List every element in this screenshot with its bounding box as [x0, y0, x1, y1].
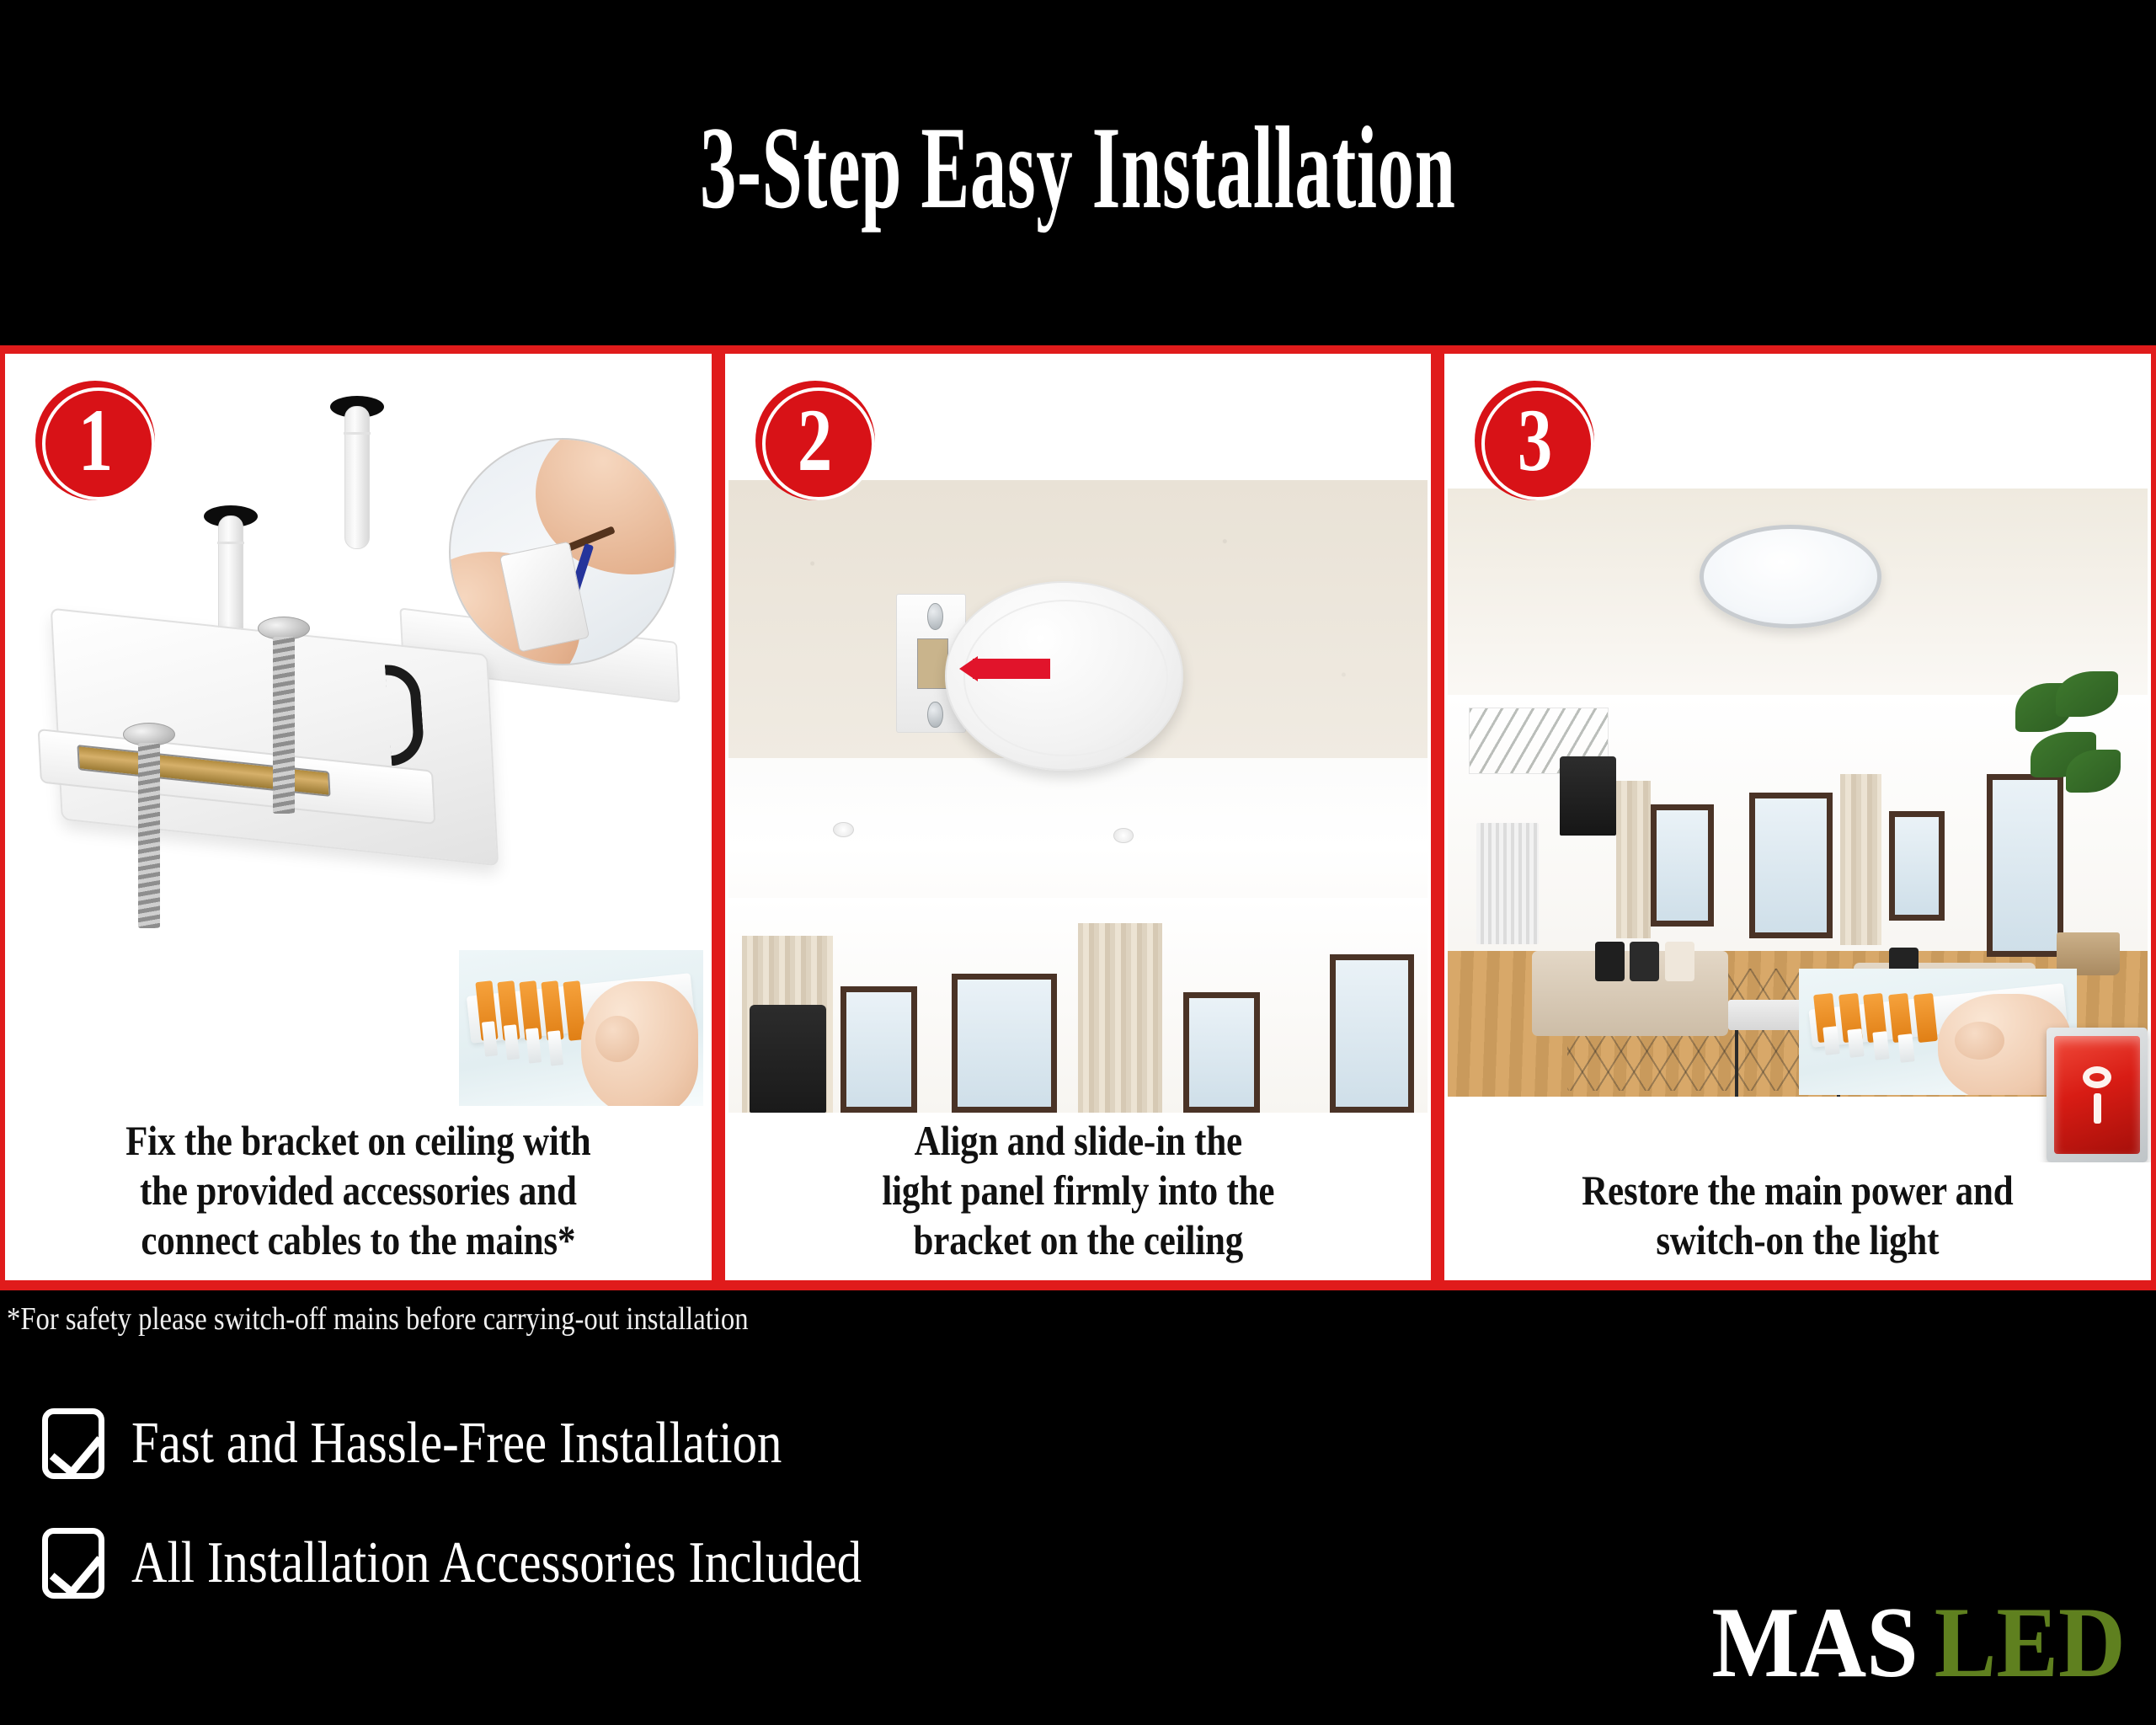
step-1-caption: Fix the bracket on ceiling with the prov…: [5, 1113, 712, 1280]
caption-line: Fix the bracket on ceiling with: [67, 1116, 648, 1166]
power-off-o-icon: [2083, 1066, 2111, 1088]
thumb: [595, 1016, 639, 1063]
safety-footnote: *For safety please switch-off mains befo…: [7, 1300, 869, 1338]
window: [952, 974, 1057, 1113]
livingroom-photo: [1448, 489, 2148, 1097]
window: [841, 986, 917, 1113]
safety-footnote-text: *For safety please switch-off mains befo…: [7, 1300, 749, 1338]
window: [1651, 804, 1714, 926]
slide-direction-arrow-icon: [973, 659, 1049, 679]
steps-strip: 1: [0, 345, 2156, 1290]
fusebox-scene-3: [1799, 969, 2077, 1095]
rocker-face: [2054, 1036, 2140, 1154]
feature-bullet-text: All Installation Accessories Included: [131, 1530, 862, 1597]
brand-logo: MASLED: [1694, 1592, 2126, 1693]
step-panel-2: 2: [725, 354, 1432, 1280]
radiator: [1476, 823, 1540, 944]
fusebox-inset-photo-1: [459, 950, 703, 1106]
feature-bullet-label: Fast and Hassle-Free Installation: [131, 1410, 906, 1477]
step-panel-1: 1: [5, 354, 712, 1280]
floor-lamp-shade: [750, 1005, 826, 1113]
step-number-badge-2: 2: [755, 381, 875, 500]
screw-shaft-1: [273, 637, 295, 814]
breaker-lever: [1872, 1031, 1889, 1060]
feature-bullet-label: All Installation Accessories Included: [131, 1530, 1001, 1597]
step-3-caption: Restore the main power and switch-on the…: [1444, 1162, 2151, 1280]
power-rocker-switch[interactable]: [2047, 1028, 2148, 1162]
downlight-icon: [1113, 828, 1134, 843]
page-title: 3-Step Easy Installation: [700, 109, 1456, 227]
feature-bullet-item: All Installation Accessories Included: [42, 1528, 1001, 1599]
step-number-1: 1: [77, 396, 112, 485]
pillow: [1595, 942, 1625, 981]
breaker-lever: [1897, 1033, 1914, 1063]
logo-led-text: LED: [1935, 1592, 2126, 1693]
caption-line: Align and slide-in the: [787, 1116, 1369, 1166]
curtain-middle: [1078, 923, 1162, 1113]
wall-plug-1: [344, 406, 370, 549]
step-number-badge-1: 1: [35, 381, 155, 500]
window: [1749, 793, 1833, 938]
caption-line: light panel firmly into the: [787, 1166, 1369, 1215]
bracket-screw-top: [927, 603, 942, 630]
power-on-i-icon: [2094, 1093, 2101, 1124]
logo-mas-text: MAS: [1711, 1592, 1918, 1693]
caption-line: switch-on the light: [1508, 1215, 2089, 1265]
potted-plant: [2008, 671, 2134, 975]
fusebox-scene-1: [459, 950, 703, 1106]
checkbox-checked-icon: [42, 1408, 104, 1479]
checkbox-checked-icon: [42, 1528, 104, 1599]
curtain-left: [1616, 781, 1652, 939]
caption-line: the provided accessories and: [67, 1166, 648, 1215]
feature-bullet-list: Fast and Hassle-Free Installation All In…: [42, 1408, 1001, 1599]
step-number-2: 2: [798, 396, 832, 485]
caption-line: Restore the main power and: [1508, 1166, 2089, 1215]
installed-ceiling-light: [1700, 525, 1881, 628]
fusebox-inset-photo-3: [1799, 969, 2077, 1095]
curtain-right: [1840, 774, 1882, 944]
screw-shaft-2: [138, 743, 160, 928]
wiring-inset-photo: [449, 438, 676, 665]
bracket-screw-bottom: [927, 702, 942, 729]
bracket-slot-opening: [917, 638, 948, 689]
title-bar: 3-Step Easy Installation: [0, 0, 2156, 337]
floor-lamp: [1560, 756, 1615, 836]
plant-leaf: [2056, 671, 2119, 717]
step-panel-3: 3: [1444, 354, 2151, 1280]
window: [1183, 992, 1260, 1113]
infographic-page: 3-Step Easy Installation 1: [0, 0, 2156, 1725]
window: [1330, 954, 1414, 1113]
feature-bullet-item: Fast and Hassle-Free Installation: [42, 1408, 1001, 1479]
caption-line: connect cables to the mains*: [67, 1215, 648, 1265]
step-2-caption: Align and slide-in the light panel firml…: [725, 1113, 1432, 1280]
pillow: [1630, 942, 1659, 981]
breaker-lever: [1822, 1026, 1839, 1055]
step-number-3: 3: [1518, 396, 1552, 485]
thumb: [1955, 1022, 2004, 1060]
window: [1889, 811, 1945, 921]
feature-bullet-text: Fast and Hassle-Free Installation: [131, 1410, 782, 1477]
caption-line: bracket on the ceiling: [787, 1215, 1369, 1265]
ceiling-install-photo: [728, 480, 1428, 1113]
pillow: [1665, 942, 1694, 981]
downlight-icon: [833, 822, 854, 837]
step-number-badge-3: 3: [1475, 381, 1594, 500]
